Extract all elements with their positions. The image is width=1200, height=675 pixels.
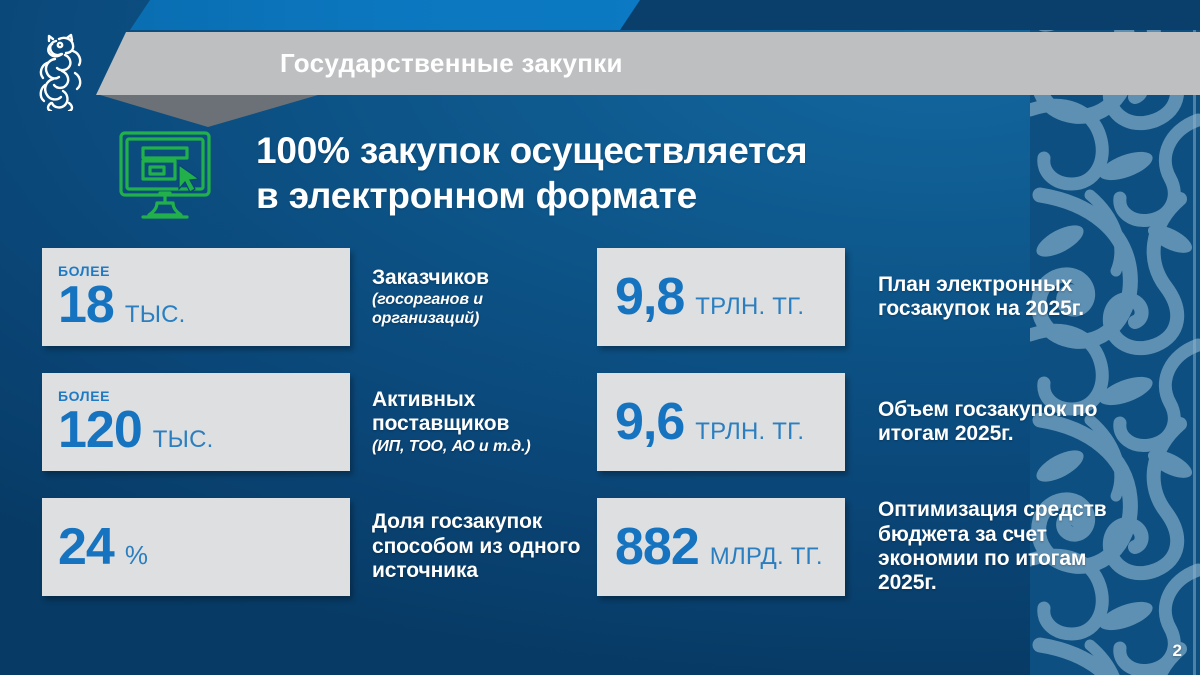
stat-value-line: 9,6 ТРЛН. ТГ. [615, 396, 845, 448]
stat-unit: ТЫС. [125, 303, 186, 327]
stat-description-main: Заказчиков [372, 266, 582, 290]
headline-line-1: 100% закупок осуществляется [256, 130, 807, 171]
stat-unit: ТЫС. [153, 428, 214, 452]
stat-cell: БОЛЕЕ 18 ТЫС. Заказчиков (госорганов и о… [42, 248, 562, 348]
stat-cell: 9,6 ТРЛН. ТГ. Объем госзакупок по итогам… [597, 373, 1157, 473]
stats-row: БОЛЕЕ 18 ТЫС. Заказчиков (госорганов и о… [0, 248, 1200, 348]
stat-value: 120 [58, 404, 142, 456]
stat-unit: МЛРД. ТГ. [710, 545, 823, 569]
stat-description-sub: (ИП, ТОО, АО и т.д.) [372, 437, 582, 456]
stat-description-main: Активных поставщиков [372, 388, 582, 437]
stat-description: Заказчиков (госорганов и организаций) [372, 248, 582, 346]
stat-description: План электронных госзакупок на 2025г. [878, 248, 1128, 346]
stat-description: Объем госзакупок по итогам 2025г. [878, 373, 1128, 471]
title-ribbon: Государственные закупки [96, 32, 1200, 95]
stat-cell: БОЛЕЕ 120 ТЫС. Активных поставщиков (ИП,… [42, 373, 562, 473]
stats-row: БОЛЕЕ 120 ТЫС. Активных поставщиков (ИП,… [0, 373, 1200, 473]
stat-description-main: Доля госзакупок способом из одного источ… [372, 510, 582, 583]
stat-description-sub: (госорганов и организаций) [372, 290, 582, 328]
stat-description-main: Объем госзакупок по итогам 2025г. [878, 398, 1128, 447]
stat-value: 18 [58, 279, 114, 331]
ribbon-shadow [78, 95, 318, 127]
stat-unit: ТРЛН. ТГ. [695, 295, 804, 319]
stat-value-line: 882 МЛРД. ТГ. [615, 521, 845, 573]
stat-description-main: План электронных госзакупок на 2025г. [878, 273, 1128, 322]
headline-line-2: в электронном формате [256, 173, 1016, 218]
stat-description: Оптимизация средств бюджета за счет экон… [878, 498, 1128, 596]
stat-card: 882 МЛРД. ТГ. [597, 498, 845, 596]
stat-card: 9,6 ТРЛН. ТГ. [597, 373, 845, 471]
stat-cell: 24 % Доля госзакупок способом из одного … [42, 498, 562, 598]
stat-card: БОЛЕЕ 18 ТЫС. [42, 248, 350, 346]
stat-value: 9,8 [615, 271, 684, 323]
stat-card: 24 % [42, 498, 350, 596]
stat-value-line: 18 ТЫС. [58, 279, 350, 331]
monitor-cursor-icon [113, 127, 217, 223]
stat-value: 9,6 [615, 396, 684, 448]
stat-value-line: 24 % [58, 521, 350, 573]
stat-cell: 9,8 ТРЛН. ТГ. План электронных госзакупо… [597, 248, 1157, 348]
stat-description: Доля госзакупок способом из одного источ… [372, 498, 582, 596]
stat-value: 882 [615, 521, 699, 573]
slide-root: Государственные закупки [0, 0, 1200, 675]
stat-value: 24 [58, 521, 114, 573]
stat-value-line: 120 ТЫС. [58, 404, 350, 456]
snow-leopard-emblem-icon [29, 33, 91, 111]
stat-unit: ТРЛН. ТГ. [695, 420, 804, 444]
stat-description: Активных поставщиков (ИП, ТОО, АО и т.д.… [372, 373, 582, 471]
page-number: 2 [1173, 641, 1182, 661]
stats-grid: БОЛЕЕ 18 ТЫС. Заказчиков (госорганов и о… [0, 248, 1200, 628]
stat-card: БОЛЕЕ 120 ТЫС. [42, 373, 350, 471]
top-band-bright [0, 0, 640, 30]
page-title: Государственные закупки [280, 48, 623, 79]
stats-row: 24 % Доля госзакупок способом из одного … [0, 498, 1200, 598]
stat-card: 9,8 ТРЛН. ТГ. [597, 248, 845, 346]
headline: 100% закупок осуществляется в электронно… [256, 128, 1016, 218]
stat-unit: % [125, 542, 148, 568]
stat-value-line: 9,8 ТРЛН. ТГ. [615, 271, 845, 323]
stat-cell: 882 МЛРД. ТГ. Оптимизация средств бюджет… [597, 498, 1157, 598]
stat-description-main: Оптимизация средств бюджета за счет экон… [878, 498, 1128, 595]
